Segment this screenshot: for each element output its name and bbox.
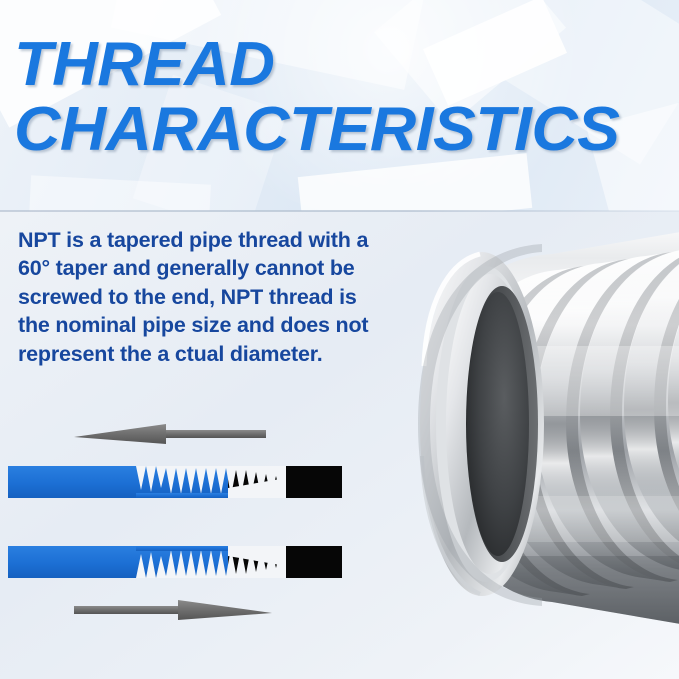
arrow-left-icon (74, 424, 266, 444)
diagram-svg (0, 410, 352, 640)
threaded-pipe-nipple-photo (352, 196, 679, 656)
description-text: NPT is a tapered pipe thread with a 60° … (18, 226, 370, 368)
thread-pair-lower (8, 546, 342, 578)
pipe-illustration (352, 196, 679, 656)
pipe-end-face (420, 252, 544, 596)
thread-pair-upper (8, 466, 342, 498)
arrow-right-icon (74, 600, 272, 620)
npt-tapered-thread-engagement-diagram (0, 410, 352, 640)
page-title: THREAD CHARACTERISTICS (0, 0, 679, 211)
infographic-canvas: THREAD CHARACTERISTICS (0, 0, 679, 679)
title-line-characteristics: CHARACTERISTICS (14, 99, 619, 161)
title-line-thread: THREAD (14, 34, 274, 96)
